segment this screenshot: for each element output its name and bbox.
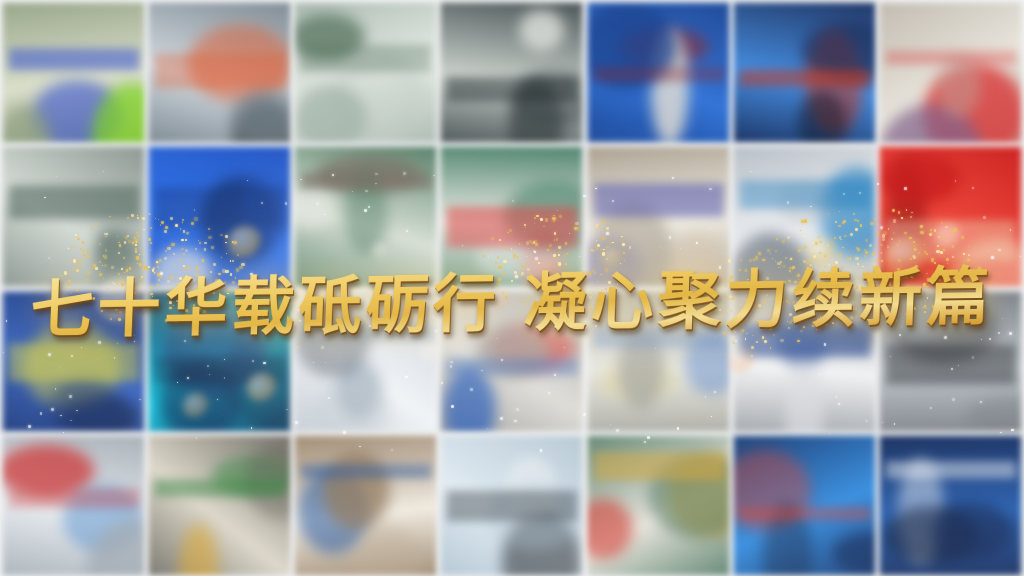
mosaic-tile [733, 147, 875, 287]
tile-band [593, 325, 724, 348]
mosaic-tile [733, 435, 875, 575]
tile-band [154, 357, 285, 384]
tile-band [447, 77, 578, 102]
tile-band [739, 70, 870, 86]
mosaic-tile [879, 291, 1021, 431]
title-card-stage: 七十华载砥砺行凝心聚力续新篇 [0, 0, 1024, 576]
mosaic-tile [441, 435, 583, 575]
mosaic-tile [441, 291, 583, 431]
tile-band [8, 343, 139, 380]
mosaic-tile [441, 3, 583, 143]
mosaic-tile [879, 435, 1021, 575]
tile-band [885, 461, 1016, 479]
mosaic-tile [879, 3, 1021, 143]
tile-shape [889, 291, 953, 337]
mosaic-tile [295, 147, 437, 287]
tile-band [447, 490, 578, 521]
tile-band [154, 53, 285, 88]
mosaic-tile [3, 3, 145, 143]
mosaic-tile [733, 291, 875, 431]
tile-band [885, 344, 1016, 384]
tile-shape [152, 248, 212, 287]
tile-band [739, 181, 870, 210]
tile-band [885, 221, 1016, 261]
tile-band [447, 207, 578, 248]
mosaic-tile [149, 147, 291, 287]
mosaic-tile [3, 147, 145, 287]
tile-band [8, 488, 139, 508]
tile-shape [798, 91, 847, 142]
tile-band [593, 183, 724, 217]
tile-band [154, 479, 285, 497]
mosaic-tile [3, 291, 145, 431]
mosaic-tile [295, 3, 437, 143]
tile-shape [931, 502, 1013, 560]
mosaic-tile [295, 291, 437, 431]
photo-mosaic-grid [0, 0, 1024, 576]
mosaic-tile [149, 435, 291, 575]
mosaic-tile [587, 291, 729, 431]
tile-band [885, 50, 1016, 64]
mosaic-tile [879, 147, 1021, 287]
mosaic-tile [587, 147, 729, 287]
tile-band [154, 188, 285, 229]
tile-shape [323, 451, 389, 529]
mosaic-tile [587, 3, 729, 143]
tile-band [593, 452, 724, 480]
tile-band [739, 507, 870, 520]
mosaic-tile [587, 435, 729, 575]
mosaic-tile [149, 3, 291, 143]
mosaic-tile [441, 147, 583, 287]
tile-band [447, 358, 578, 375]
tile-band [301, 173, 432, 190]
tile-band [8, 48, 139, 70]
tile-band [301, 464, 432, 478]
tile-band [301, 44, 432, 72]
tile-band [8, 186, 139, 220]
tile-band [301, 323, 432, 340]
mosaic-tile [149, 291, 291, 431]
tile-shape [520, 10, 564, 50]
mosaic-tile [3, 435, 145, 575]
tile-band [739, 324, 870, 357]
mosaic-tile [733, 3, 875, 143]
mosaic-tile [295, 435, 437, 575]
tile-band [593, 67, 724, 82]
